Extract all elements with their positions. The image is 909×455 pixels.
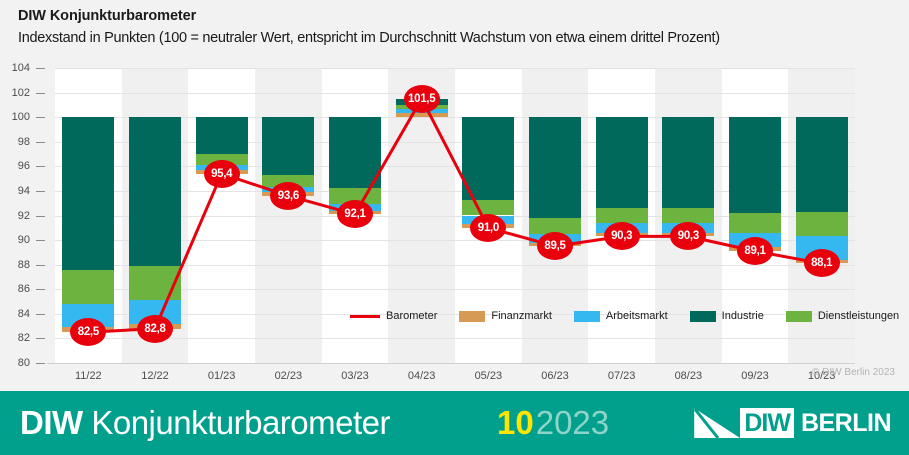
page-title: DIW Konjunkturbarometer: [18, 8, 196, 24]
data-point-label: 90,3: [670, 222, 706, 250]
y-axis-tick-mark: [36, 314, 45, 315]
x-axis-tick-label: 08/23: [675, 370, 703, 382]
y-axis-tick-mark: [36, 68, 45, 69]
x-axis-tick-label: 03/23: [341, 370, 369, 382]
y-axis-tick-label: 92: [0, 210, 30, 222]
y-axis-tick-label: 88: [0, 259, 30, 271]
legend-swatch-icon: [459, 311, 485, 322]
data-point-label: 95,4: [204, 160, 240, 188]
footer-banner: DIW Konjunkturbarometer 102023 DIW BERLI…: [0, 391, 909, 455]
chart-card: DIW Konjunkturbarometer Indexstand in Pu…: [0, 0, 909, 385]
x-axis-tick-label: 09/23: [741, 370, 769, 382]
y-axis-tick-mark: [36, 93, 45, 94]
diw-berlin-logo: DIW BERLIN: [694, 408, 891, 438]
y-axis-tick-mark: [36, 142, 45, 143]
y-axis-tick-mark: [36, 117, 45, 118]
x-axis-tick-label: 02/23: [275, 370, 303, 382]
data-point-label: 89,5: [537, 232, 573, 260]
legend-swatch-icon: [786, 311, 812, 322]
barometer-polyline: [88, 99, 821, 333]
y-axis-tick-label: 82: [0, 332, 30, 344]
data-point-label: 93,6: [270, 182, 306, 210]
x-axis-tick-label: 12/22: [141, 370, 169, 382]
y-axis-tick-mark: [36, 191, 45, 192]
y-axis-tick-mark: [36, 216, 45, 217]
x-axis-tick-label: 11/22: [75, 370, 102, 382]
y-axis-tick-mark: [36, 338, 45, 339]
legend-swatch-icon: [574, 311, 600, 322]
y-axis-tick-label: 90: [0, 234, 30, 246]
page-subtitle: Indexstand in Punkten (100 = neutraler W…: [18, 30, 720, 46]
y-axis-tick-mark: [36, 166, 45, 167]
y-axis-tick-mark: [36, 289, 45, 290]
y-axis-tick-mark: [36, 265, 45, 266]
y-axis-tick-label: 104: [0, 62, 30, 74]
y-axis-tick-mark: [36, 363, 45, 364]
x-axis-tick-label: 01/23: [208, 370, 236, 382]
legend-item[interactable]: Barometer: [350, 310, 437, 322]
legend-item[interactable]: Industrie: [690, 310, 764, 322]
legend-label: Barometer: [386, 310, 437, 322]
data-point-label: 82,5: [70, 318, 106, 346]
legend-label: Arbeitsmarkt: [606, 310, 668, 322]
x-axis-tick-label: 07/23: [608, 370, 636, 382]
y-axis-tick-label: 80: [0, 357, 30, 369]
footer-brand: DIW Konjunkturbarometer: [20, 404, 390, 442]
diw-logo-mark-icon: [694, 408, 740, 438]
data-point-label: 88,1: [804, 249, 840, 277]
footer-brand-light: Konjunkturbarometer: [91, 404, 390, 441]
legend-line-icon: [350, 315, 380, 318]
legend-swatch-icon: [690, 311, 716, 322]
y-axis-tick-label: 100: [0, 111, 30, 123]
y-axis-tick-label: 86: [0, 283, 30, 295]
legend-label: Industrie: [722, 310, 764, 322]
logo-berlin-text: BERLIN: [801, 408, 891, 438]
copyright-note: © DIW Berlin 2023: [812, 367, 895, 378]
footer-month: 10: [497, 404, 534, 441]
x-axis-tick-label: 04/23: [408, 370, 436, 382]
data-point-label: 90,3: [604, 222, 640, 250]
gridline: [47, 363, 855, 364]
footer-brand-bold: DIW: [20, 404, 83, 441]
x-axis-tick-label: 06/23: [541, 370, 569, 382]
legend-label: Finanzmarkt: [491, 310, 552, 322]
footer-date: 102023: [497, 404, 609, 442]
y-axis-tick-label: 94: [0, 185, 30, 197]
y-axis-tick-label: 102: [0, 87, 30, 99]
legend-item[interactable]: Dienstleistungen: [786, 310, 899, 322]
y-axis-tick-label: 96: [0, 160, 30, 172]
legend-item[interactable]: Arbeitsmarkt: [574, 310, 668, 322]
logo-diw-text: DIW: [740, 408, 794, 438]
data-point-label: 92,1: [337, 200, 373, 228]
data-point-label: 101,5: [404, 85, 440, 113]
x-axis-tick-label: 05/23: [475, 370, 503, 382]
data-point-label: 82,8: [137, 315, 173, 343]
data-point-label: 89,1: [737, 237, 773, 265]
y-axis-tick-label: 98: [0, 136, 30, 148]
legend-label: Dienstleistungen: [818, 310, 899, 322]
data-point-label: 91,0: [470, 214, 506, 242]
legend: BarometerFinanzmarktArbeitsmarktIndustri…: [350, 310, 909, 322]
footer-year: 2023: [536, 404, 609, 441]
y-axis-tick-mark: [36, 240, 45, 241]
legend-item[interactable]: Finanzmarkt: [459, 310, 552, 322]
y-axis-tick-label: 84: [0, 308, 30, 320]
